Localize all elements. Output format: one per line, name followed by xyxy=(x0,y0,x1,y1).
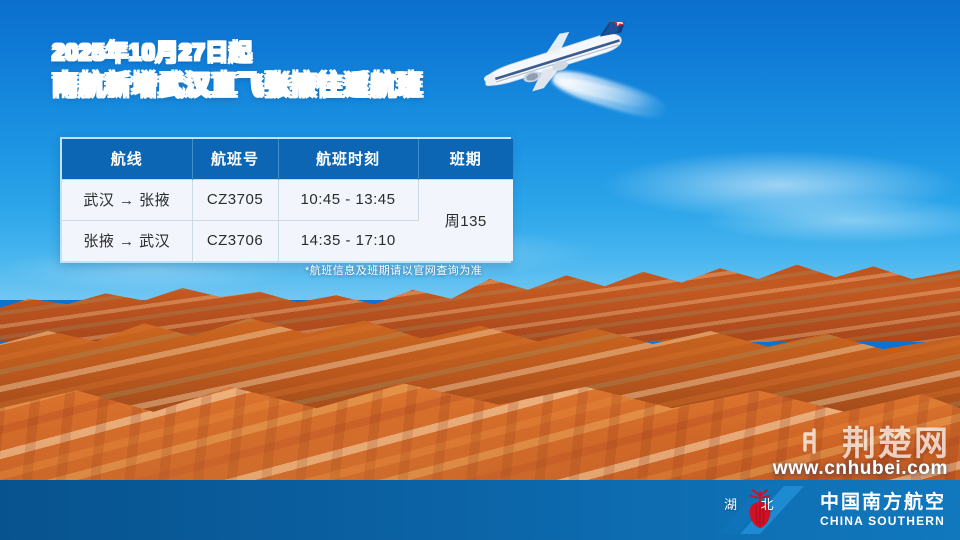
region-label: 湖 北 xyxy=(724,494,784,513)
table-header-row: 航线 航班号 航班时刻 班期 xyxy=(62,139,513,179)
headline-main: 南航新增武汉直飞张掖往返航班 xyxy=(52,68,423,103)
column-header-time: 航班时刻 xyxy=(278,139,418,179)
cell-flight-no: CZ3706 xyxy=(192,220,278,261)
airplane-illustration xyxy=(455,22,655,102)
cell-flight-no: CZ3705 xyxy=(192,179,278,220)
cell-time: 14:35 - 17:10 xyxy=(278,220,418,261)
cell-time: 10:45 - 13:45 xyxy=(278,179,418,220)
column-header-route: 航线 xyxy=(62,139,192,179)
cell-route: 张掖 → 武汉 xyxy=(62,220,192,261)
flight-schedule-table: 航线 航班号 航班时刻 班期 武汉 → 张掖 CZ3705 10:45 - 13… xyxy=(60,137,511,263)
airline-name-block: 中国南方航空 CHINA SOUTHERN xyxy=(820,493,946,527)
column-header-flightno: 航班号 xyxy=(192,139,278,179)
column-header-days: 班期 xyxy=(418,139,513,179)
table-row: 武汉 → 张掖 CZ3705 10:45 - 13:45 周135 xyxy=(62,179,513,220)
bottom-brand-bar: 湖 北 中国南方航空 CHINA SOUTHERN xyxy=(0,480,960,540)
disclaimer-note: *航班信息及班期请以官网查询为准 xyxy=(305,262,482,278)
poster-canvas: 2025年10月27日起 南航新增武汉直飞张掖往返航班 航线 航班号 航班时刻 … xyxy=(0,0,960,540)
cell-route: 武汉 → 张掖 xyxy=(62,179,192,220)
watermark-url: www.cnhubei.com xyxy=(773,458,948,480)
jingchu-logo-icon xyxy=(801,424,835,458)
headline-date: 2025年10月27日起 xyxy=(52,38,423,66)
tailfin-logo: 湖 北 xyxy=(716,480,816,540)
airline-name-en: CHINA SOUTHERN xyxy=(820,515,946,527)
airline-name-cn: 中国南方航空 xyxy=(820,493,946,512)
cell-schedule-days: 周135 xyxy=(418,179,513,261)
airline-logo-group: 湖 北 中国南方航空 CHINA SOUTHERN xyxy=(716,480,946,540)
headline-block: 2025年10月27日起 南航新增武汉直飞张掖往返航班 xyxy=(52,38,423,103)
